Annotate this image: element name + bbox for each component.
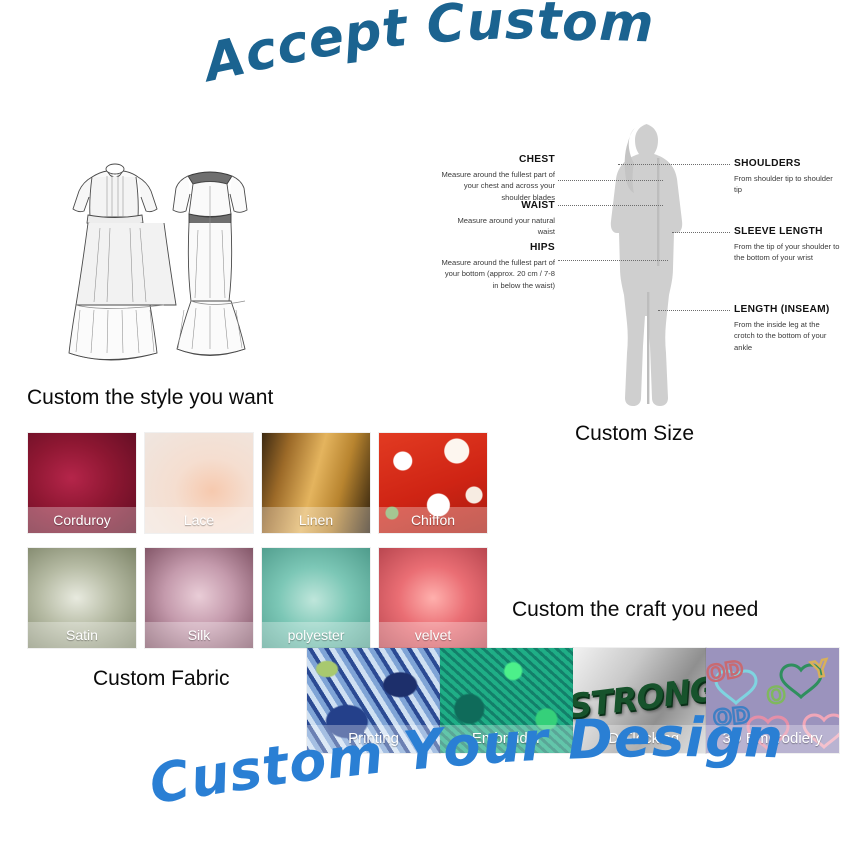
page-footer-title-custom-your-design: Custom Your Design [148,706,787,815]
dotted-line-shoulders [618,164,730,165]
measure-desc-hips: Measure around the fullest part of your … [441,258,555,290]
fabric-swatch-polyester[interactable]: polyester [262,548,370,648]
page-title-accept-custom: Accept Custom [202,0,657,92]
fabric-swatch-linen[interactable]: Linen [262,433,370,533]
measure-title-length-inseam: LENGTH (INSEAM) [734,302,840,317]
dotted-line-length [658,310,730,311]
measure-title-hips: HIPS [440,240,555,255]
measure-label-hips: HIPS Measure around the fullest part of … [440,240,555,291]
measure-label-waist: WAIST Measure around your natural waist [440,198,555,238]
measure-label-chest: CHEST Measure around the fullest part of… [440,152,555,203]
dress-style-illustrations [50,160,300,375]
measure-label-length-inseam: LENGTH (INSEAM) From the inside leg at t… [734,302,840,353]
measure-label-shoulders: SHOULDERS From shoulder tip to shoulder … [734,156,840,196]
fabric-swatch-silk[interactable]: Silk [145,548,253,648]
dress-sketch-svg [50,160,300,375]
measure-title-waist: WAIST [440,198,555,213]
fabric-swatch-lace[interactable]: Lace [145,433,253,533]
size-measurement-chart: CHEST Measure around the fullest part of… [440,120,840,410]
svg-text:OD: OD [706,657,745,688]
fabric-label-polyester: polyester [262,622,370,648]
measure-desc-chest: Measure around the fullest part of your … [441,170,555,202]
heading-custom-craft: Custom the craft you need [512,598,758,622]
heading-custom-fabric: Custom Fabric [93,667,230,691]
fabric-label-velvet: velvet [379,622,487,648]
dotted-line-hips [558,260,668,261]
measure-desc-sleeve-length: From the tip of your shoulder to the bot… [734,242,840,262]
fabric-label-satin: Satin [28,622,136,648]
dotted-line-waist [558,205,663,206]
page-footer-title-text: Custom Your Design [148,706,787,815]
measure-title-shoulders: SHOULDERS [734,156,840,171]
fabric-label-lace: Lace [145,507,253,533]
heading-custom-size: Custom Size [575,422,694,446]
dotted-line-chest [558,180,663,181]
heading-custom-style: Custom the style you want [27,386,273,410]
fabric-label-silk: Silk [145,622,253,648]
dotted-line-sleeve [672,232,730,233]
fabric-label-corduroy: Corduroy [28,507,136,533]
page-title-text: Accept Custom [202,0,657,92]
dress-left [69,164,176,360]
measure-label-sleeve-length: SLEEVE LENGTH From the tip of your shoul… [734,224,840,264]
fabric-swatch-corduroy[interactable]: Corduroy [28,433,136,533]
svg-text:Y: Y [809,656,832,684]
fabric-swatch-velvet[interactable]: velvet [379,548,487,648]
measure-title-sleeve-length: SLEEVE LENGTH [734,224,840,239]
measure-desc-waist: Measure around your natural waist [457,216,555,236]
dress-right [173,172,247,356]
fabric-swatch-satin[interactable]: Satin [28,548,136,648]
fabric-label-chiffon: Chiffon [379,507,487,533]
measure-desc-length-inseam: From the inside leg at the crotch to the… [734,320,826,352]
measure-desc-shoulders: From shoulder tip to shoulder tip [734,174,833,194]
measure-title-chest: CHEST [440,152,555,167]
fabric-label-linen: Linen [262,507,370,533]
fabric-swatch-chiffon[interactable]: Chiffon [379,433,487,533]
